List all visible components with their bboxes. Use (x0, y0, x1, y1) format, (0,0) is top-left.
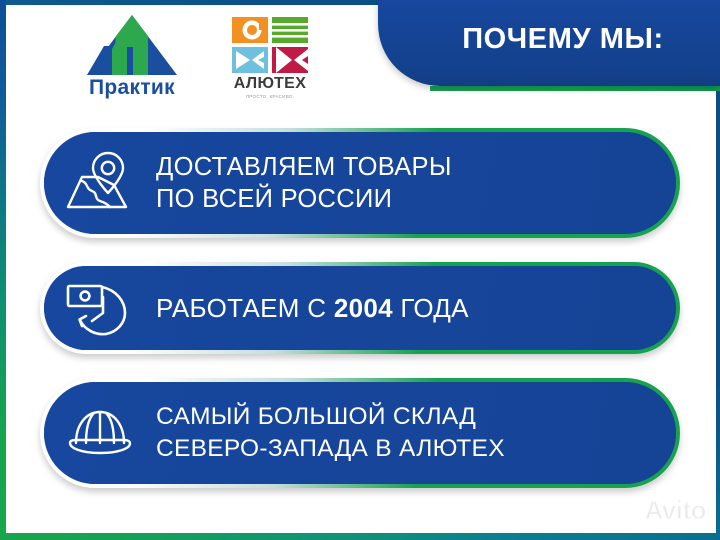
feature-text-prefix: РАБОТАЕМ С (156, 293, 334, 323)
frame-bottom-border (0, 533, 720, 540)
frame-left-border (0, 0, 6, 540)
logo-alutech-wordmark: АЛЮТЕХ (224, 75, 316, 93)
feature-text-suffix: ГОДА (393, 293, 469, 323)
promo-banner: Практик (0, 0, 720, 540)
feature-text-experience: РАБОТАЕМ С 2004 ГОДА (156, 292, 676, 324)
logo-practik: Практик (72, 14, 192, 106)
money-clock-icon (44, 279, 156, 337)
feature-text-accent-year: 2004 (334, 293, 393, 323)
avito-watermark: Avito (619, 495, 706, 526)
feature-text-delivery: ДОСТАВЛЯЕМ ТОВАРЫ ПО ВСЕЙ РОССИИ (156, 151, 676, 215)
feature-line: ПО ВСЕЙ РОССИИ (156, 183, 658, 215)
logo-alutech-tagline: ПРОСТО. КРАСИВО. (224, 94, 316, 99)
four-square-grid-icon (232, 17, 308, 73)
feature-line: СЕВЕРО-ЗАПАДА В АЛЮТЕХ (156, 433, 658, 465)
page-title: ПОЧЕМУ МЫ: (418, 22, 708, 56)
feature-pill-warehouse[interactable]: САМЫЙ БОЛЬШОЙ СКЛАД СЕВЕРО-ЗАПАДА В АЛЮТ… (40, 378, 680, 488)
avito-label: Avito (644, 495, 706, 526)
feature-line: ДОСТАВЛЯЕМ ТОВАРЫ (156, 151, 658, 183)
hard-hat-icon (44, 403, 156, 463)
feature-line: РАБОТАЕМ С 2004 ГОДА (156, 292, 658, 324)
header-green-accent (430, 86, 720, 91)
avito-dots-icon (619, 497, 641, 524)
logo-practik-wordmark: Практик (72, 76, 192, 100)
feature-pill-delivery[interactable]: ДОСТАВЛЯЕМ ТОВАРЫ ПО ВСЕЙ РОССИИ (40, 128, 680, 238)
mountain-triangle-icon (86, 14, 178, 76)
logo-alutech: АЛЮТЕХ ПРОСТО. КРАСИВО. (224, 17, 316, 109)
feature-pill-experience[interactable]: РАБОТАЕМ С 2004 ГОДА (40, 262, 680, 354)
map-location-pin-icon (44, 151, 156, 215)
feature-line: САМЫЙ БОЛЬШОЙ СКЛАД (156, 401, 658, 433)
feature-text-warehouse: САМЫЙ БОЛЬШОЙ СКЛАД СЕВЕРО-ЗАПАДА В АЛЮТ… (156, 401, 676, 465)
